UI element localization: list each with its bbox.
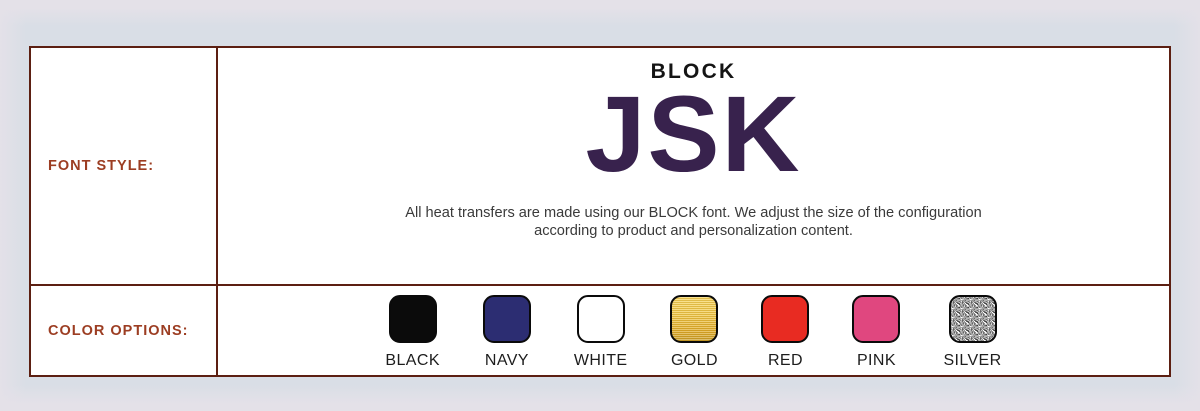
color-swatch-list: BLACKNAVYWHITEGOLDREDPINKSILVER (218, 286, 1169, 375)
color-swatch-option[interactable]: WHITE (574, 295, 628, 370)
color-swatch-option[interactable]: PINK (852, 295, 900, 370)
color-chip-label: BLACK (385, 352, 439, 370)
color-swatch-option[interactable]: BLACK (385, 295, 439, 370)
color-swatch-option[interactable]: GOLD (670, 295, 718, 370)
color-chip-red[interactable] (761, 295, 809, 343)
color-swatch-option[interactable]: NAVY (483, 295, 531, 370)
font-style-row: FONT STYLE: BLOCK JSK All heat transfers… (31, 48, 1169, 286)
font-style-label: FONT STYLE: (48, 158, 154, 174)
color-chip-label: PINK (857, 352, 896, 370)
color-options-label-cell: COLOR OPTIONS: (31, 286, 218, 375)
color-chip-label: NAVY (485, 352, 529, 370)
color-swatch-option[interactable]: SILVER (943, 295, 1001, 370)
color-swatch-option[interactable]: RED (761, 295, 809, 370)
color-chip-silver[interactable] (949, 295, 997, 343)
font-style-content-cell: BLOCK JSK All heat transfers are made us… (218, 48, 1169, 284)
color-chip-label: RED (768, 352, 803, 370)
color-chip-black[interactable] (389, 295, 437, 343)
font-sample-monogram: JSK (585, 80, 801, 188)
color-chip-white[interactable] (577, 295, 625, 343)
product-spec-table: FONT STYLE: BLOCK JSK All heat transfers… (29, 46, 1171, 377)
font-style-label-cell: FONT STYLE: (31, 48, 218, 284)
color-chip-pink[interactable] (852, 295, 900, 343)
color-chip-navy[interactable] (483, 295, 531, 343)
color-chip-gold[interactable] (670, 295, 718, 343)
color-chip-label: WHITE (574, 352, 628, 370)
font-style-description: All heat transfers are made using our BL… (394, 204, 994, 240)
color-options-label: COLOR OPTIONS: (48, 323, 188, 339)
color-chip-label: SILVER (943, 352, 1001, 370)
color-options-content-cell: BLACKNAVYWHITEGOLDREDPINKSILVER (218, 286, 1169, 375)
color-options-row: COLOR OPTIONS: BLACKNAVYWHITEGOLDREDPINK… (31, 286, 1169, 375)
color-chip-label: GOLD (671, 352, 718, 370)
